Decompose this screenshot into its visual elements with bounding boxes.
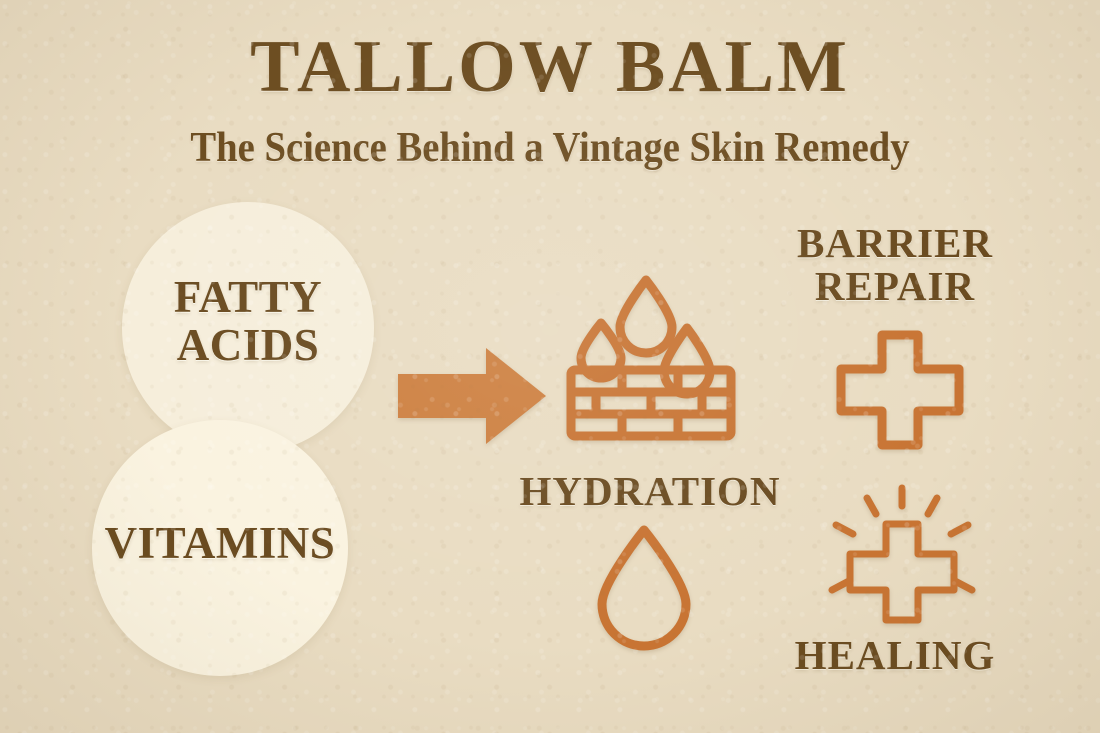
ingredient-label-fatty-acids: FATTY ACIDS [122, 274, 374, 369]
ingredient-label-vitamins: VITAMINS [92, 520, 348, 568]
ingredient-blob-vitamins: VITAMINS [92, 420, 348, 676]
ingredient-blob-fatty-acids: FATTY ACIDS [122, 202, 374, 454]
ray-right [951, 525, 968, 534]
water-droplet-icon [594, 524, 694, 644]
outcome-label-line1: HYDRATION [519, 468, 780, 514]
brick-wall-icon [565, 270, 737, 442]
outcome-label-healing: HEALING [770, 634, 1020, 677]
ray-upper-left [867, 498, 876, 514]
outcome-label-hydration: HYDRATION [480, 470, 820, 513]
healing-cross-outline [850, 524, 954, 620]
arrow-right-icon [398, 348, 546, 444]
outcome-label-line1: HEALING [795, 632, 996, 678]
outcome-label-line2: REPAIR [815, 263, 975, 309]
droplet-large-icon [620, 280, 672, 353]
page-subtitle: The Science Behind a Vintage Skin Remedy [44, 127, 1056, 169]
ray-lower-left [832, 581, 849, 590]
outcome-label-barrier-repair: BARRIER REPAIR [760, 222, 1030, 308]
outcome-label-line1: BARRIER [797, 220, 993, 266]
plus-cross-icon [836, 330, 964, 450]
infographic-poster: TALLOW BALM The Science Behind a Vintage… [0, 0, 1100, 733]
radiant-plus-cross-icon [826, 484, 978, 626]
ray-lower-right [955, 581, 972, 590]
ray-upper-right [928, 498, 937, 514]
ingredient-label-line2: ACIDS [177, 320, 320, 370]
page-title: TALLOW BALM [0, 30, 1100, 104]
ingredient-label-line1: FATTY [174, 272, 322, 322]
ray-left [836, 525, 853, 534]
